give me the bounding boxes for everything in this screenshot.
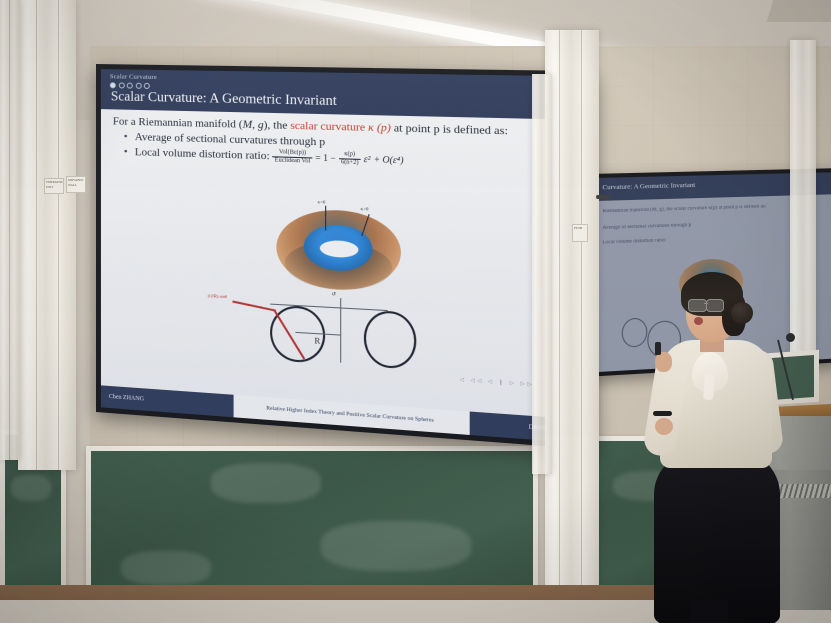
torus-label-inner: κ<0 xyxy=(318,199,326,204)
partition-column-left-outer xyxy=(0,0,20,460)
torus-cross-section-figure: R (r2/R)·sinθ ↺ xyxy=(210,291,445,369)
partition-column-left xyxy=(18,0,76,470)
partition-column-right xyxy=(790,40,816,370)
speaker-bow-tail xyxy=(703,374,715,401)
slide-mirror-line-2: Average of sectional curvatures through … xyxy=(602,223,691,231)
formula-denominator: Euclidean Vol xyxy=(273,156,313,165)
intro-kappa: κ (p) xyxy=(368,121,391,134)
speaker-legs xyxy=(690,600,728,623)
formula-kappa-fraction: κ(p) 6(n+2) xyxy=(339,151,361,166)
speaker-raised-hand xyxy=(655,352,672,372)
speaker-hair-bun xyxy=(731,302,753,324)
intro-prefix: For a Riemannian manifold ( xyxy=(113,115,243,130)
partition-sticker-left-1: EMERGENCY EXIT xyxy=(44,178,64,194)
microphone-icon xyxy=(786,333,795,342)
mirror-cross-section-circle-2 xyxy=(622,317,648,347)
eyeglasses-left-lens-icon xyxy=(688,299,707,312)
formula-equals: = 1 − xyxy=(315,152,335,163)
slide-section-label: Scalar Curvature xyxy=(110,73,157,81)
intro-suffix: at point p is defined as: xyxy=(391,122,508,138)
torus-leader-inner xyxy=(325,206,326,231)
formula-epsilon-squared: ε² xyxy=(364,153,371,164)
intro-mid: ), the xyxy=(264,119,291,132)
formula-kappa-den: 6(n+2) xyxy=(339,158,361,166)
slide-footer-author: Chen ZHANG xyxy=(101,393,233,409)
formula-volume-ratio: Vol(Bε(p)) Euclidean Vol xyxy=(273,149,313,165)
ceiling-vent xyxy=(767,0,831,22)
partition-column-center-back xyxy=(532,74,552,474)
cross-section-circle-right xyxy=(364,310,416,370)
eyeglasses-bridge xyxy=(704,303,708,304)
eyeglasses-right-lens-icon xyxy=(706,299,724,312)
partition-column-center xyxy=(545,30,599,623)
projection-screen-main: Scalar Curvature Scalar Curvature: A Geo… xyxy=(96,64,594,450)
speaker-wristwatch xyxy=(653,411,672,416)
slide-title: Scalar Curvature: A Geometric Invariant xyxy=(111,88,337,109)
intro-manifold: M, g xyxy=(243,118,264,131)
callout-arrow-red xyxy=(232,300,276,311)
presentation-clicker[interactable] xyxy=(655,342,661,355)
partition-sticker-center: PUSH xyxy=(572,224,588,242)
cross-section-circle-left xyxy=(270,305,325,364)
formula-numerator: Vol(Bε(p)) xyxy=(273,149,313,157)
speaker-skirt xyxy=(654,448,780,623)
slide-mirror-line-1: Riemannian manifold (M, g), the scalar c… xyxy=(602,204,766,214)
slide-main: Scalar Curvature Scalar Curvature: A Geo… xyxy=(101,69,589,444)
bullet-2-label: Local volume distortion ratio: xyxy=(135,146,270,162)
slide-mirror-line-3: Local volume distortion ratio: xyxy=(602,238,666,245)
slide-mirror-title: Curvature: A Geometric Invariant xyxy=(602,182,695,192)
formula-tail: + O(ε⁴) xyxy=(373,154,403,165)
partition-latch-icon[interactable] xyxy=(596,195,610,199)
intro-highlight: scalar curvature xyxy=(290,120,365,134)
speaker-left-hand xyxy=(655,418,673,435)
partition-sticker-left-2: MOVABLE WALL xyxy=(66,176,86,193)
slide-body: For a Riemannian manifold (M, g), the sc… xyxy=(101,109,589,420)
torus-label-outer: κ>0 xyxy=(361,206,369,212)
rotation-symbol: ↺ xyxy=(332,291,337,297)
speaker-mouth xyxy=(694,317,703,325)
cross-section-arrow-label: (r2/R)·sinθ xyxy=(208,293,227,299)
lecture-hall-photo: Scalar Curvature Scalar Curvature: A Geo… xyxy=(0,0,831,623)
torus-figure: κ<0 κ>0 xyxy=(276,202,401,297)
radius-label: R xyxy=(314,336,320,346)
